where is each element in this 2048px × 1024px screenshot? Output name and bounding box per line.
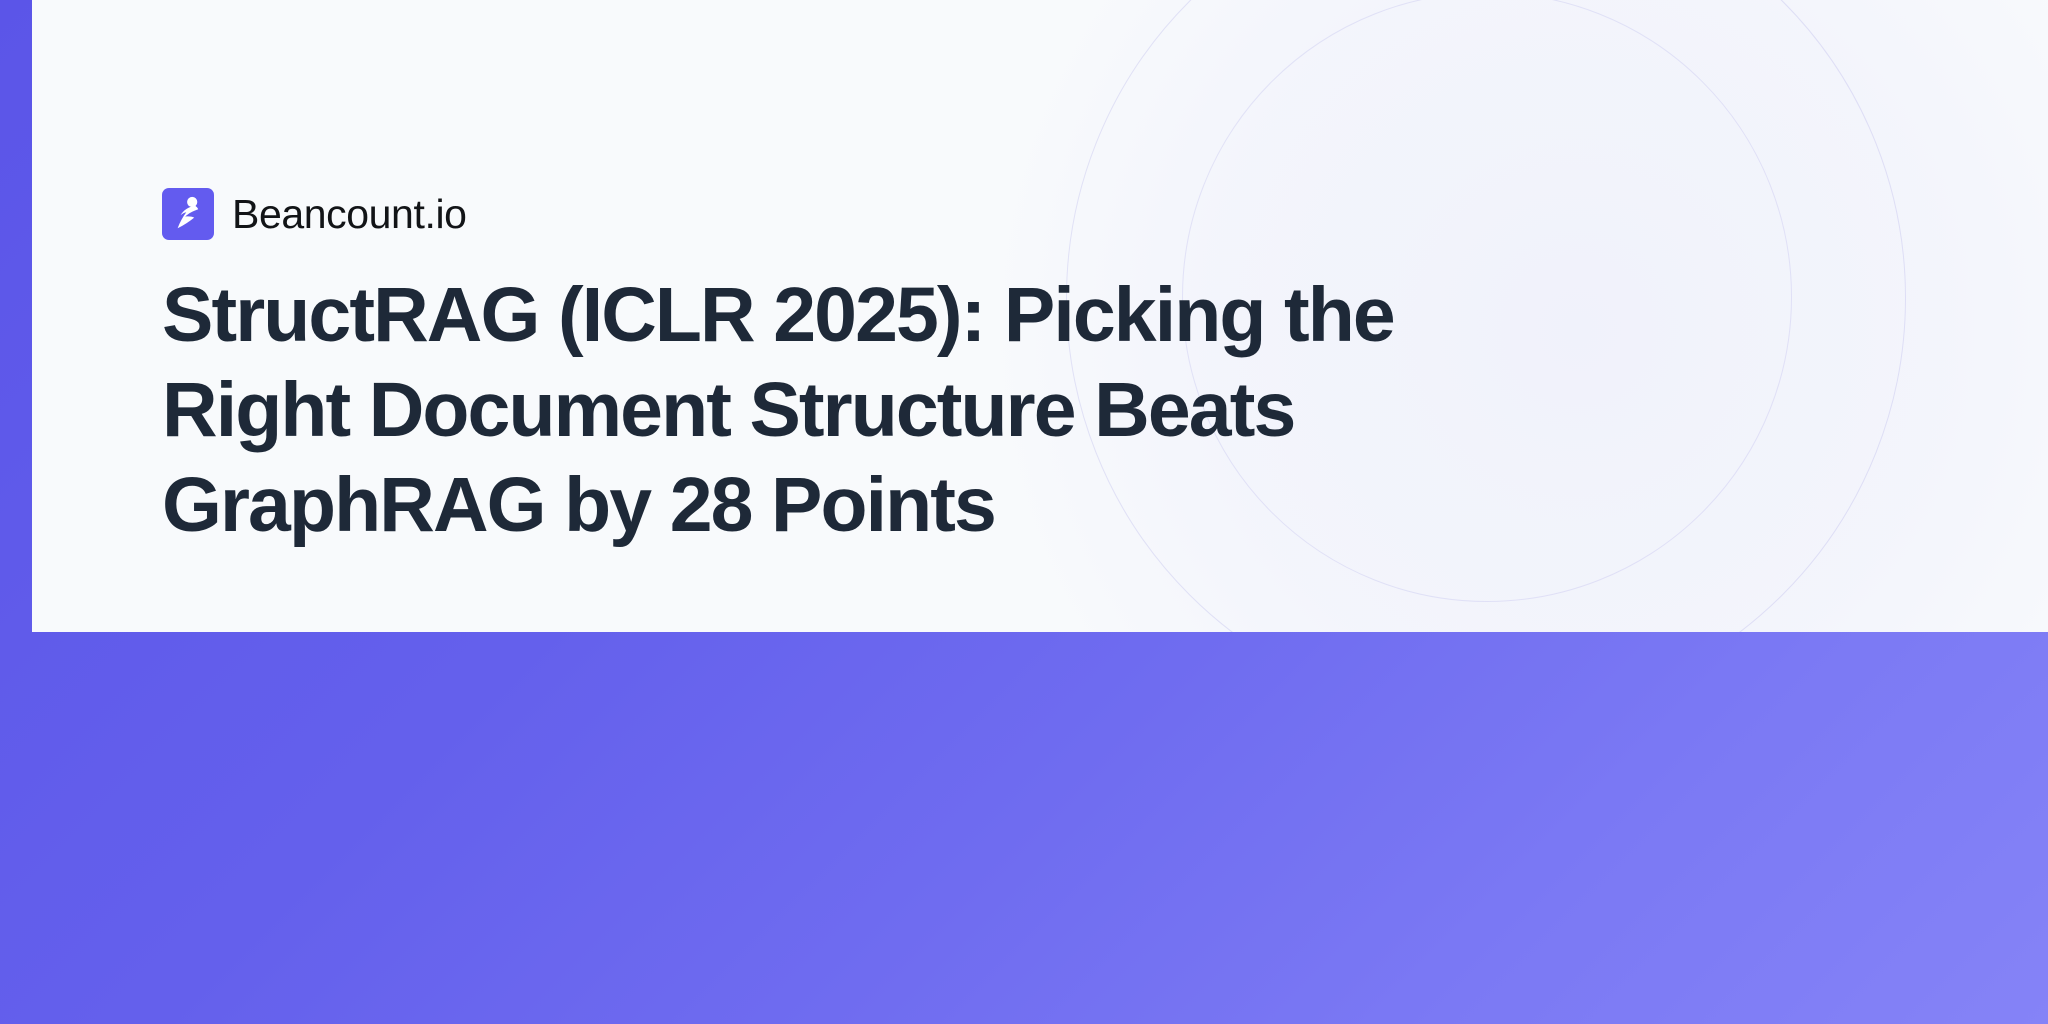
hero-card: Beancount.io StructRAG (ICLR 2025): Pick… bbox=[32, 0, 2048, 632]
leaping-figure-icon bbox=[162, 188, 214, 240]
hero-content: Beancount.io StructRAG (ICLR 2025): Pick… bbox=[162, 0, 1582, 632]
og-banner: Beancount.io StructRAG (ICLR 2025): Pick… bbox=[0, 0, 2048, 1024]
brand-lockup[interactable]: Beancount.io bbox=[162, 188, 467, 240]
brand-name: Beancount.io bbox=[232, 194, 467, 235]
page-title: StructRAG (ICLR 2025): Picking the Right… bbox=[162, 268, 1492, 553]
